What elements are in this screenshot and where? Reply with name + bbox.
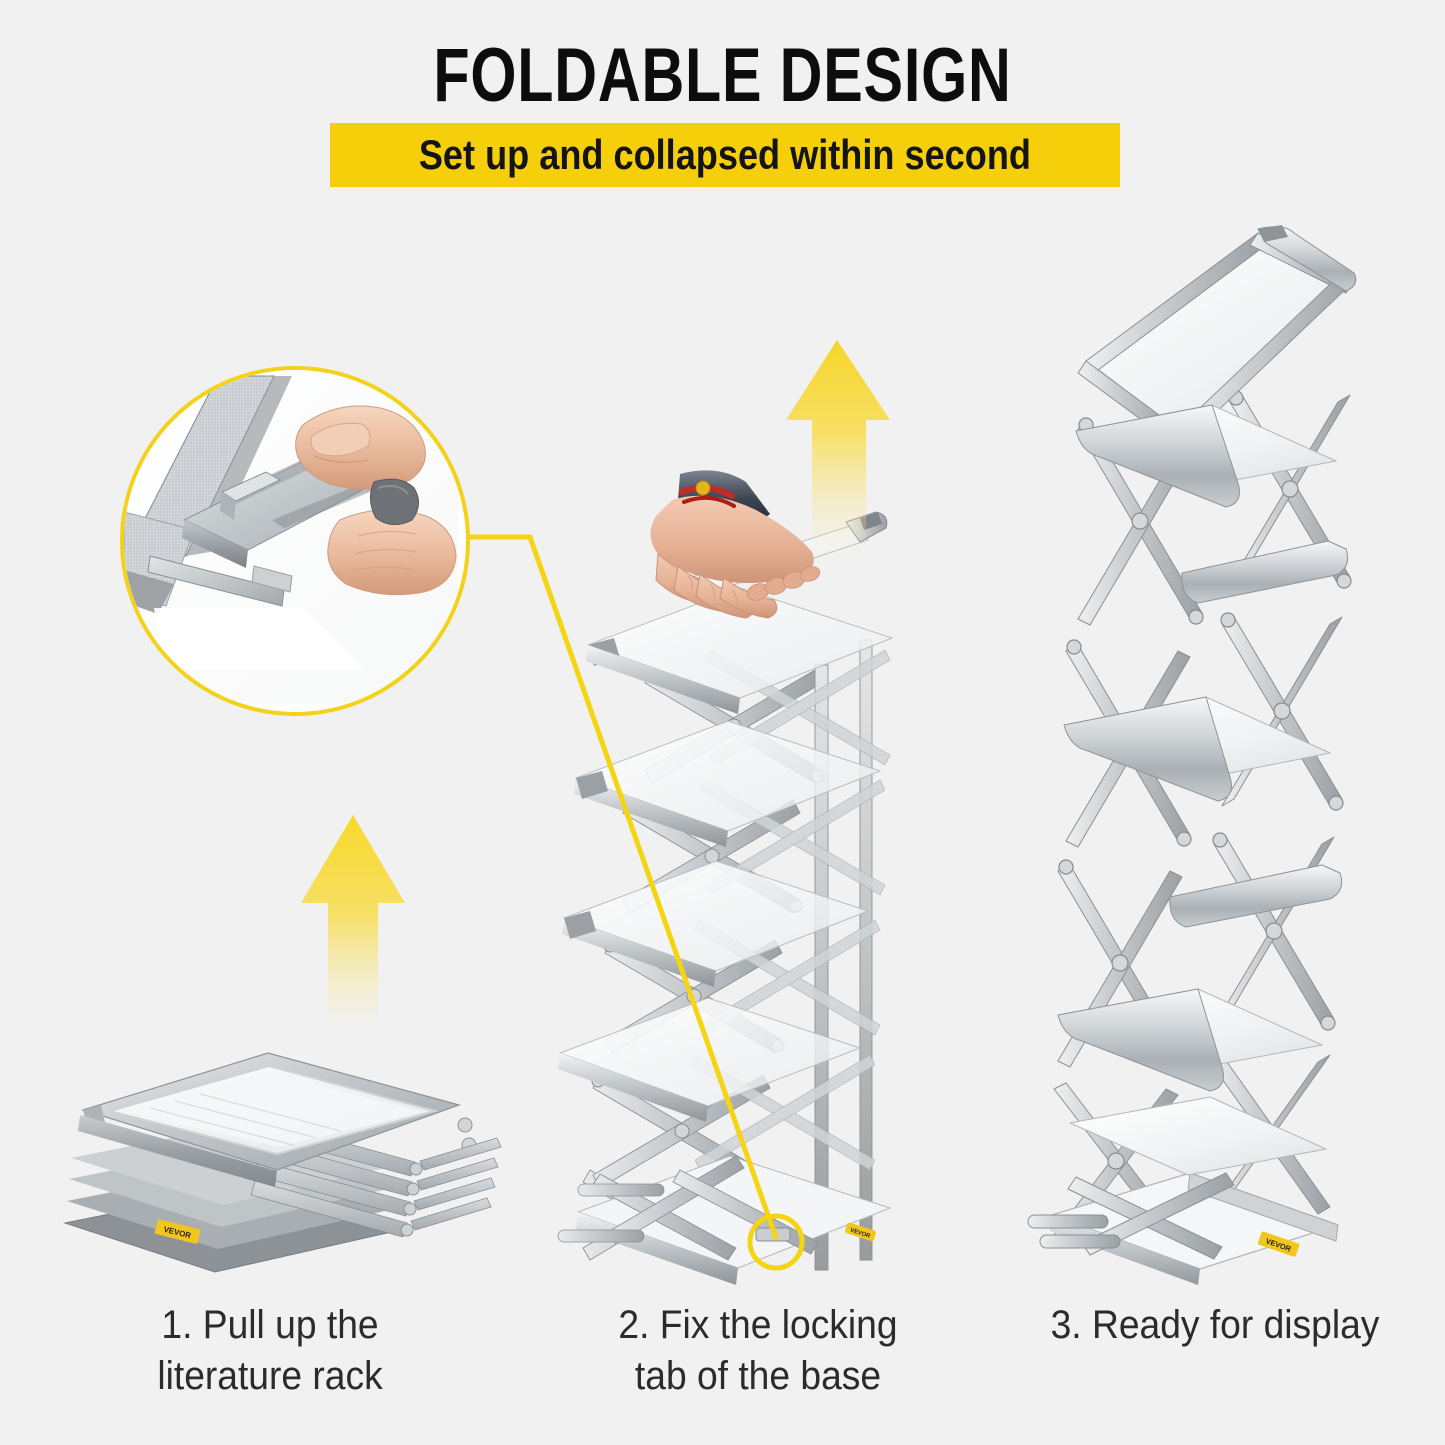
step-1-caption: 1. Pull up the literature rack (84, 1300, 456, 1402)
fully-assembled-literature-rack: VEVOR (1030, 225, 1400, 1285)
subtitle-text: Set up and collapsed within second (419, 131, 1031, 179)
step-2-caption: 2. Fix the locking tab of the base (563, 1300, 954, 1402)
page-title: FOLDABLE DESIGN (159, 32, 1286, 119)
locking-tab-closeup (120, 366, 470, 716)
partially-expanded-rack-with-hand: VEVOR (560, 470, 960, 1290)
subtitle-banner: Set up and collapsed within second (330, 123, 1120, 187)
rubber-seal-strip (370, 479, 418, 524)
step-3-caption: 3. Ready for display (1015, 1300, 1415, 1351)
collapsed-literature-rack: VEVOR (55, 995, 525, 1295)
up-arrow-step-2 (772, 332, 902, 557)
infographic-canvas: FOLDABLE DESIGN Set up and collapsed wit… (0, 0, 1445, 1445)
up-arrow-step-1 (283, 805, 423, 1030)
rack-base-assembled: VEVOR (1028, 1097, 1338, 1285)
